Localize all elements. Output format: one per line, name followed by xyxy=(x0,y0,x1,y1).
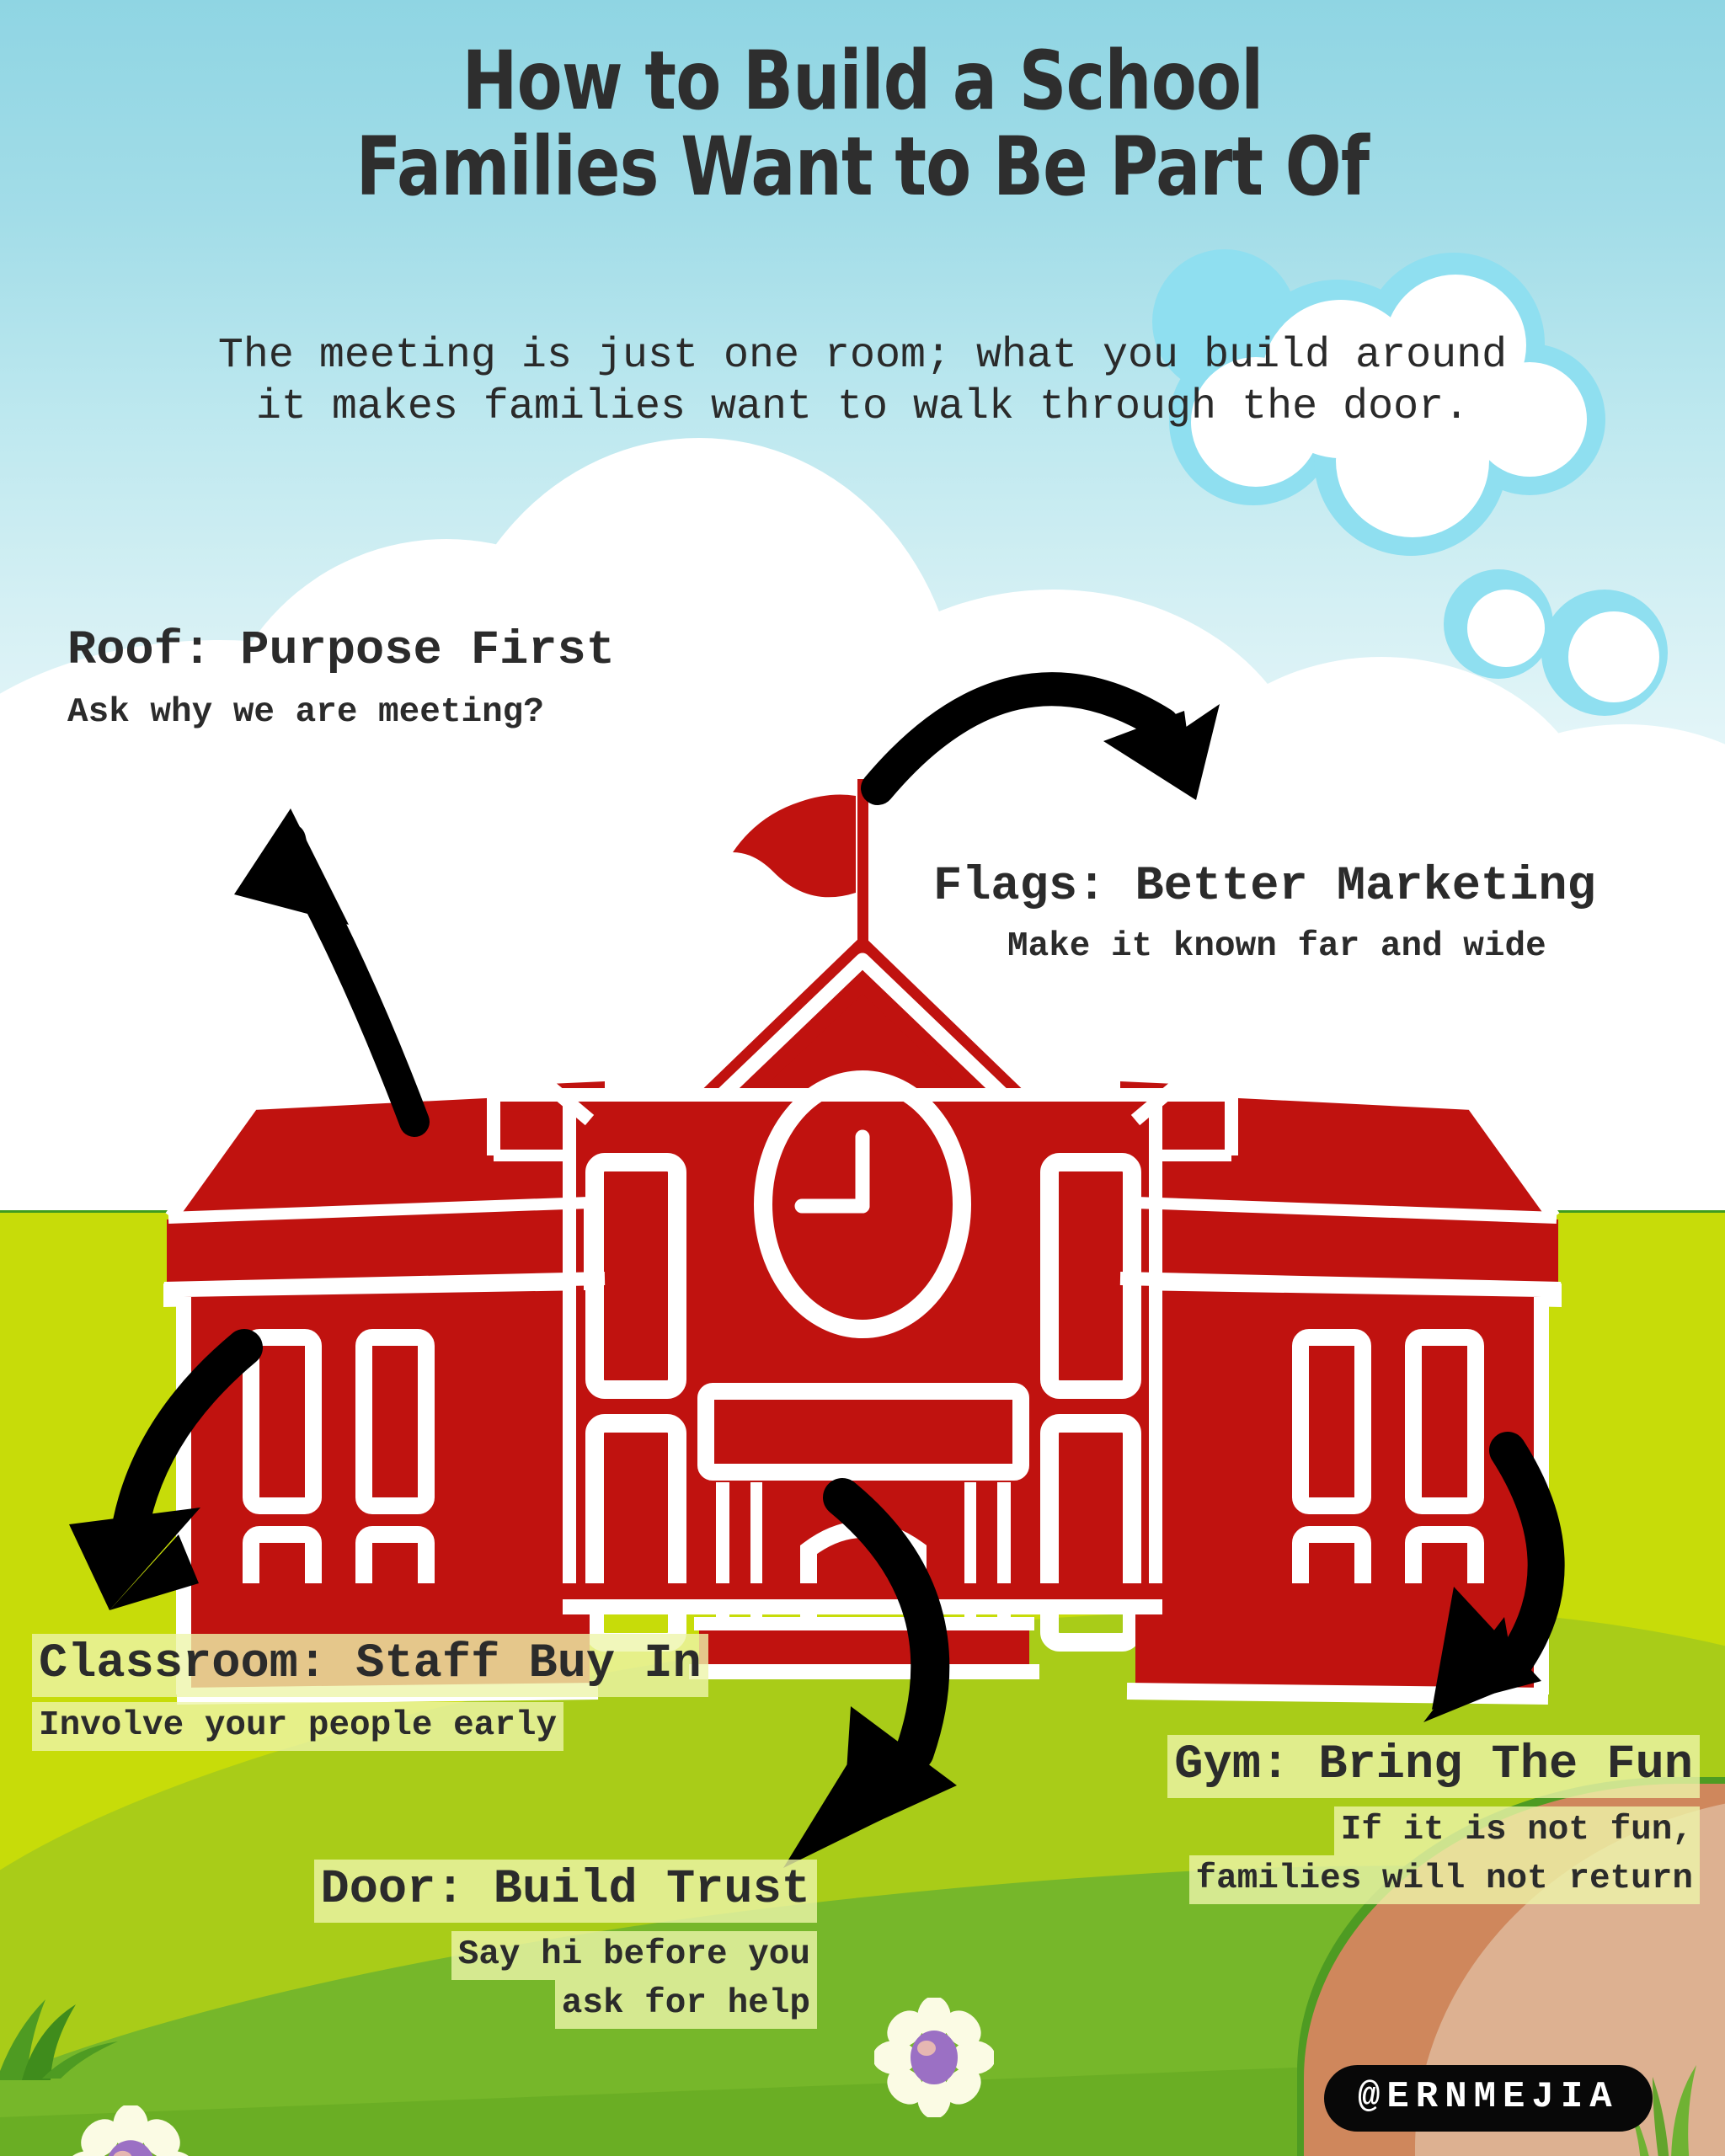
callout-flags-sub: Make it known far and wide xyxy=(1007,926,1596,968)
callout-roof: Roof: Purpose First Ask why we are meeti… xyxy=(67,623,615,734)
infographic-poster: How to Build a School Families Want to B… xyxy=(0,0,1725,2156)
callout-roof-heading: Roof: Purpose First xyxy=(67,623,615,680)
flower-icon xyxy=(67,2105,194,2156)
subtitle-line-2: it makes families want to walk through t… xyxy=(0,382,1725,433)
callout-gym-sub-2: families will not return xyxy=(1189,1855,1701,1904)
callout-door: Door: Build Trust Say hi before you ask … xyxy=(194,1860,817,2029)
curved-arrow-up-icon xyxy=(234,808,414,1122)
author-handle-badge: @ERNMEJIA xyxy=(1324,2065,1653,2132)
title-line-2: Families Want to Be Part Of xyxy=(155,125,1569,211)
callout-flags-heading: Flags: Better Marketing xyxy=(933,859,1596,915)
flower-icon xyxy=(874,1998,994,2117)
page-title: How to Build a School Families Want to B… xyxy=(0,39,1725,211)
callout-gym: Gym: Bring The Fun If it is not fun, fam… xyxy=(1034,1735,1700,1904)
title-line-1: How to Build a School xyxy=(155,39,1569,125)
page-subtitle: The meeting is just one room; what you b… xyxy=(0,330,1725,433)
author-handle-text: @ERNMEJIA xyxy=(1358,2076,1619,2118)
subtitle-line-1: The meeting is just one room; what you b… xyxy=(0,330,1725,382)
callout-door-sub-2: ask for help xyxy=(555,1980,817,2029)
callout-gym-heading: Gym: Bring The Fun xyxy=(1167,1735,1700,1798)
callout-flags: Flags: Better Marketing Make it known fa… xyxy=(933,859,1596,968)
callout-classroom-heading: Classroom: Staff Buy In xyxy=(32,1634,708,1697)
callout-classroom-sub: Involve your people early xyxy=(32,1702,563,1751)
callout-door-sub-1: Say hi before you xyxy=(451,1931,817,1980)
callout-door-heading: Door: Build Trust xyxy=(314,1860,818,1923)
callout-classroom: Classroom: Staff Buy In Involve your peo… xyxy=(32,1634,708,1751)
curved-arrow-right-icon xyxy=(878,689,1220,800)
callout-gym-sub-1: If it is not fun, xyxy=(1334,1806,1700,1855)
curved-arrow-down-right-icon xyxy=(1423,1450,1546,1722)
curved-arrow-down-left-icon xyxy=(69,1347,244,1610)
callout-roof-sub: Ask why we are meeting? xyxy=(67,691,615,734)
curved-arrow-down-icon xyxy=(783,1497,957,1868)
grass-tuft-icon xyxy=(0,1971,194,2089)
